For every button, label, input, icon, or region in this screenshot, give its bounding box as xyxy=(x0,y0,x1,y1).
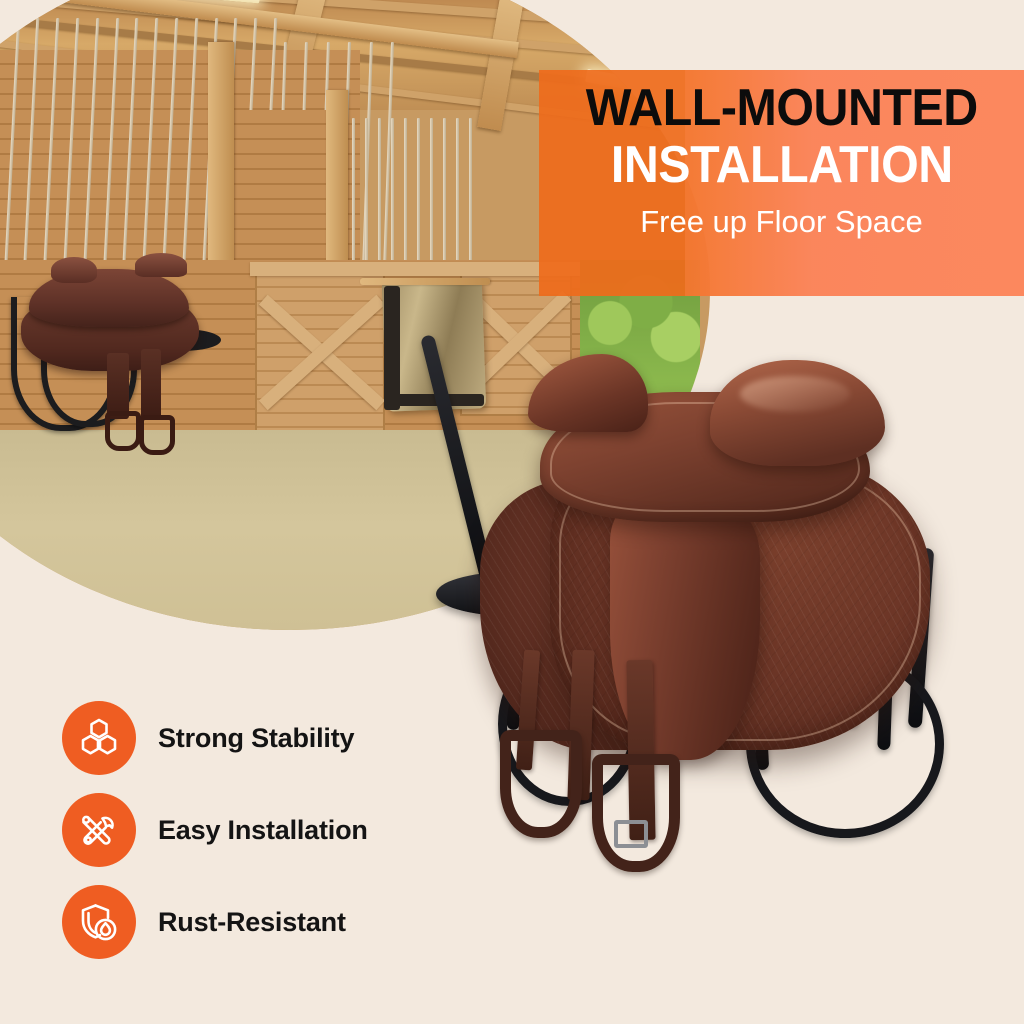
saddle-fender-small xyxy=(141,349,161,419)
blanket-bar xyxy=(360,278,490,285)
stirrup-small xyxy=(139,415,175,455)
feature-list: Strong Stability Easy Installation xyxy=(62,692,482,968)
feature-item-rust-resistant: Rust-Resistant xyxy=(62,876,482,968)
banner-headline-top: WALL-MOUNTED xyxy=(586,82,978,135)
saddle-product-photo xyxy=(440,350,1000,910)
honeycomb-icon xyxy=(62,701,136,775)
banner-subline: Free up Floor Space xyxy=(640,204,923,240)
poster-canvas: WALL-MOUNTED INSTALLATION Free up Floor … xyxy=(0,0,1024,1024)
banner-text-block: WALL-MOUNTED INSTALLATION Free up Floor … xyxy=(539,70,1024,296)
ceiling-beam xyxy=(602,0,760,40)
mounted-saddle-small xyxy=(15,245,215,445)
banner-headline-bottom: INSTALLATION xyxy=(611,139,953,192)
saddle-highlight xyxy=(740,376,850,412)
feature-item-strong-stability: Strong Stability xyxy=(62,692,482,784)
wrench-screwdriver-icon xyxy=(62,793,136,867)
stirrup xyxy=(592,754,680,872)
feature-label: Strong Stability xyxy=(158,723,354,754)
door-track xyxy=(250,262,580,276)
promo-banner: WALL-MOUNTED INSTALLATION Free up Floor … xyxy=(539,70,1024,296)
feature-label: Easy Installation xyxy=(158,815,368,846)
saddle-pommel xyxy=(528,354,648,432)
stirrup-buckle xyxy=(614,820,648,848)
saddle-fender-small xyxy=(107,353,129,419)
saddle-pommel-small xyxy=(51,257,97,283)
stirrup-small xyxy=(105,411,141,451)
feature-label: Rust-Resistant xyxy=(158,907,346,938)
barn-door-x xyxy=(255,272,385,432)
shield-droplet-icon xyxy=(62,885,136,959)
stirrup xyxy=(500,730,582,838)
blanket-trim xyxy=(384,286,400,410)
feature-item-easy-installation: Easy Installation xyxy=(62,784,482,876)
saddle-cantle-small xyxy=(135,253,187,277)
